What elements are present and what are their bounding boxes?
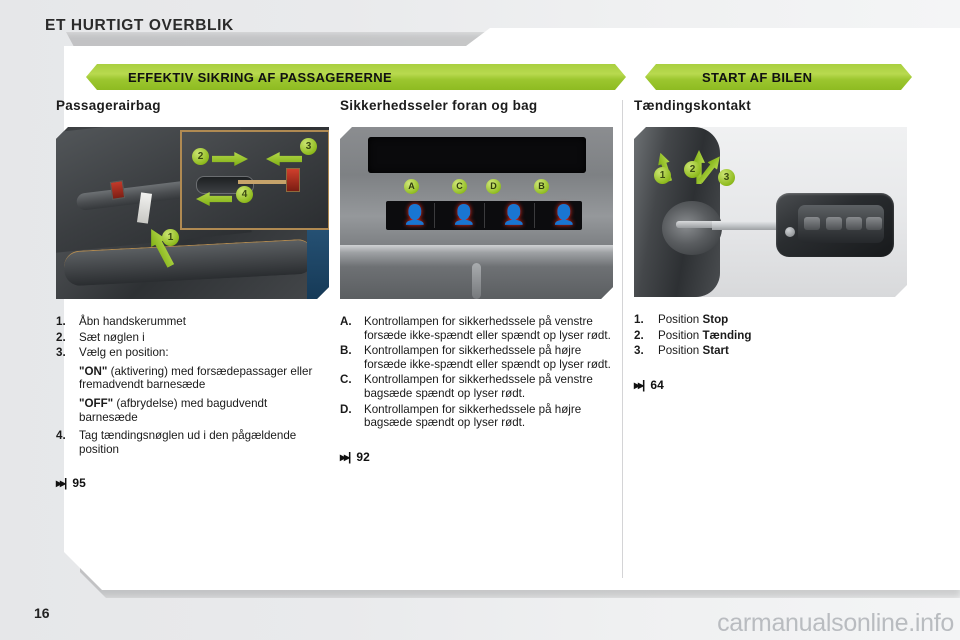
banner-label: EFFEKTIV SIKRING AF PASSAGERERNE xyxy=(128,70,392,85)
list-item: 3. Position Start xyxy=(634,344,912,358)
list-text: Kontrollampen for sikkerhedssele på højr… xyxy=(364,403,615,430)
page-ref-number: 64 xyxy=(650,378,663,392)
banner-label: START AF BILEN xyxy=(702,70,812,85)
seatbelt-icon-b: 👤 xyxy=(552,206,568,226)
seatbelt-indicator-panel-photo: A C D B 👤 👤 👤 👤 xyxy=(340,127,613,299)
seatbelt-icon-d: 👤 xyxy=(502,206,518,226)
list-item: 2. Sæt nøglen i xyxy=(56,331,329,345)
strip-separator xyxy=(434,203,435,228)
switch-red-indicator xyxy=(286,168,300,192)
list-item: A. Kontrollampen for sikkerhedssele på v… xyxy=(340,315,615,342)
column-seatbelts: Sikkerhedsseler foran og bag A C D B 👤 👤… xyxy=(340,98,615,464)
page-ref-arrow-icon: ▸▸| xyxy=(340,450,349,464)
list-text: Kontrollampen for sikkerhedssele på vens… xyxy=(364,373,615,400)
seatbelt-icon-c: 👤 xyxy=(452,206,468,226)
callout-badge-3: 3 xyxy=(300,138,317,155)
list-marker: B. xyxy=(340,344,364,371)
column-title: Sikkerhedsseler foran og bag xyxy=(340,98,615,113)
airbag-position-on: "ON" (aktivering) med forsædepassager el… xyxy=(79,365,329,392)
list-marker: 1. xyxy=(56,315,79,329)
seatbelt-icon-a: 👤 xyxy=(403,206,419,226)
list-marker: 2. xyxy=(56,331,79,345)
list-item: 1. Åbn handskerummet xyxy=(56,315,329,329)
column-title: Tændingskontakt xyxy=(634,98,912,113)
key-fob-keypad-shape xyxy=(798,205,884,243)
indicator-strip: 👤 👤 👤 👤 xyxy=(386,201,582,230)
callout-badge-3: 3 xyxy=(718,169,735,186)
page-reference[interactable]: ▸▸| 95 xyxy=(56,476,329,490)
watermark: carmanualsonline.info xyxy=(717,609,954,638)
page-number: 16 xyxy=(34,605,50,621)
page-reference[interactable]: ▸▸| 64 xyxy=(634,378,912,392)
list-marker: 4. xyxy=(56,429,79,456)
position-prefix: Position xyxy=(658,313,702,326)
callout-badge-c: C xyxy=(452,179,467,194)
column-ignition-switch: Tændingskontakt 1 2 3 1. Position Stop 2 xyxy=(634,98,912,392)
callout-arrow-3 xyxy=(266,152,302,166)
list-item: C. Kontrollampen for sikkerhedssele på v… xyxy=(340,373,615,400)
unlock-button-shape xyxy=(826,217,842,230)
list-text: Position Start xyxy=(658,344,912,358)
list-text: Position Stop xyxy=(658,313,912,327)
airbag-step-list: 1. Åbn handskerummet 2. Sæt nøglen i 3. … xyxy=(56,315,329,360)
list-text: Åbn handskerummet xyxy=(79,315,329,329)
page-ref-number: 95 xyxy=(72,476,85,490)
column-divider xyxy=(622,100,623,578)
lock-button-shape xyxy=(804,217,820,230)
list-text: Position Tænding xyxy=(658,329,912,343)
key-release-button-shape xyxy=(785,227,795,237)
list-item: 3. Vælg en position: xyxy=(56,346,329,360)
list-item: B. Kontrollampen for sikkerhedssele på h… xyxy=(340,344,615,371)
page-ref-number: 92 xyxy=(356,450,369,464)
seatbelt-indicator-list: A. Kontrollampen for sikkerhedssele på v… xyxy=(340,315,615,430)
list-item: D. Kontrollampen for sikkerhedssele på h… xyxy=(340,403,615,430)
display-screen-shape xyxy=(368,137,586,173)
page-reference[interactable]: ▸▸| 92 xyxy=(340,450,615,464)
list-item: 1. Position Stop xyxy=(634,313,912,327)
list-marker: D. xyxy=(340,403,364,430)
airbag-switch-inset: 2 3 4 xyxy=(180,130,329,230)
callout-badge-b: B xyxy=(534,179,549,194)
panic-button-shape xyxy=(846,217,862,230)
position-value: Stop xyxy=(702,313,728,326)
airbag-step-list-continued: 4. Tag tændingsnøglen ud i den pågældend… xyxy=(56,429,329,456)
list-marker: 1. xyxy=(634,313,658,327)
list-text: Tag tændingsnøglen ud i den pågældende p… xyxy=(79,429,329,456)
callout-badge-1: 1 xyxy=(162,229,179,246)
column-passenger-airbag: Passagerairbag 1 2 3 4 1. Åbn handskerum… xyxy=(56,98,329,490)
vent-slider-shape xyxy=(472,263,481,299)
list-marker: 3. xyxy=(634,344,658,358)
position-value: Tænding xyxy=(702,329,751,342)
page-ref-arrow-icon: ▸▸| xyxy=(634,378,643,392)
strip-separator xyxy=(534,203,535,228)
ignition-switch-and-key-photo: 1 2 3 xyxy=(634,127,907,297)
red-marker-shape xyxy=(110,180,125,200)
callout-badge-2: 2 xyxy=(192,148,209,165)
ignition-position-list: 1. Position Stop 2. Position Tænding 3. … xyxy=(634,313,912,358)
position-prefix: Position xyxy=(658,344,702,357)
list-marker: 2. xyxy=(634,329,658,343)
callout-arrow-4 xyxy=(196,192,232,206)
callout-badge-4: 4 xyxy=(236,186,253,203)
list-item: 2. Position Tænding xyxy=(634,329,912,343)
banner-passenger-safety: EFFEKTIV SIKRING AF PASSAGERERNE xyxy=(86,64,626,90)
callout-badge-2: 2 xyxy=(684,161,701,178)
position-prefix: Position xyxy=(658,329,702,342)
page-ref-arrow-icon: ▸▸| xyxy=(56,476,65,490)
list-item: 4. Tag tændingsnøglen ud i den pågældend… xyxy=(56,429,329,456)
callout-arrow-2 xyxy=(212,152,248,166)
list-text: Vælg en position: xyxy=(79,346,329,360)
passenger-airbag-switch-photo: 1 2 3 4 xyxy=(56,127,329,299)
list-text: Kontrollampen for sikkerhedssele på højr… xyxy=(364,344,615,371)
boot-button-shape xyxy=(866,217,882,230)
callout-badge-1: 1 xyxy=(654,167,671,184)
banner-starting-the-car: START AF BILEN xyxy=(645,64,912,90)
callout-badge-d: D xyxy=(486,179,501,194)
list-marker: A. xyxy=(340,315,364,342)
list-text: Kontrollampen for sikkerhedssele på vens… xyxy=(364,315,615,342)
position-value: Start xyxy=(702,344,728,357)
callout-badge-a: A xyxy=(404,179,419,194)
list-text: Sæt nøglen i xyxy=(79,331,329,345)
banner-body: START AF BILEN xyxy=(645,64,912,90)
strip-separator xyxy=(484,203,485,228)
position-off-label: "OFF" xyxy=(79,397,113,410)
key-blade-shape xyxy=(712,221,784,230)
key-fob-shape xyxy=(776,193,894,257)
list-marker: 3. xyxy=(56,346,79,360)
column-title: Passagerairbag xyxy=(56,98,329,113)
banner-body: EFFEKTIV SIKRING AF PASSAGERERNE xyxy=(86,64,626,90)
position-on-label: "ON" xyxy=(79,365,107,378)
position-on-text: (aktivering) med forsædepassager eller f… xyxy=(79,365,312,392)
airbag-position-off: "OFF" (afbrydelse) med bagudvendt barnes… xyxy=(79,397,329,424)
list-marker: C. xyxy=(340,373,364,400)
